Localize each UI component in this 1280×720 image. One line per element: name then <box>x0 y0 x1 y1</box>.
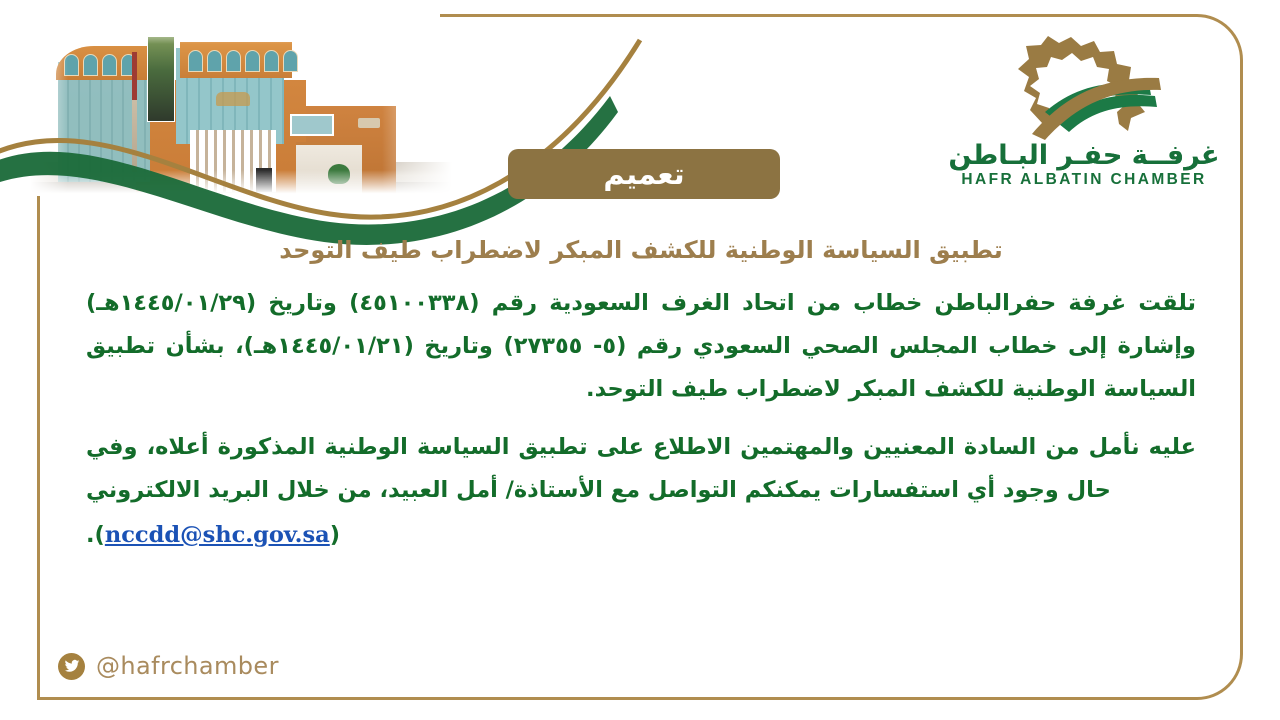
decorative-wave-graphic <box>0 0 700 260</box>
chamber-logo: غرفــة حفـر البـاطن HAFR ALBATIN CHAMBER <box>945 36 1223 204</box>
email-paren-close: ). <box>86 522 105 548</box>
logo-english-name: HAFR ALBATIN CHAMBER <box>945 171 1223 189</box>
paragraph-request: عليه نأمل من السادة المعنيين والمهتمين ا… <box>86 426 1196 512</box>
email-link[interactable]: nccdd@shc.gov.sa <box>105 522 330 548</box>
circular-badge: تعميم <box>508 149 780 199</box>
email-line: (nccdd@shc.gov.sa). <box>86 522 1196 548</box>
paragraph-reference: تلقت غرفة حفرالباطن خطاب من اتحاد الغرف … <box>86 282 1196 412</box>
twitter-icon[interactable] <box>58 653 85 680</box>
chamber-gear-icon <box>999 36 1169 140</box>
social-footer[interactable]: @hafrchamber <box>58 652 279 680</box>
page-title: تطبيق السياسة الوطنية للكشف المبكر لاضطر… <box>86 232 1196 268</box>
document-body: تطبيق السياسة الوطنية للكشف المبكر لاضطر… <box>86 232 1196 548</box>
logo-arabic-name: غرفــة حفـر البـاطن <box>945 142 1223 170</box>
social-handle[interactable]: @hafrchamber <box>96 652 279 680</box>
announcement-page: تعميم غرفــة حفـر البـاطن HAFR ALBATIN C… <box>0 0 1280 720</box>
email-paren-open: ( <box>330 522 340 548</box>
